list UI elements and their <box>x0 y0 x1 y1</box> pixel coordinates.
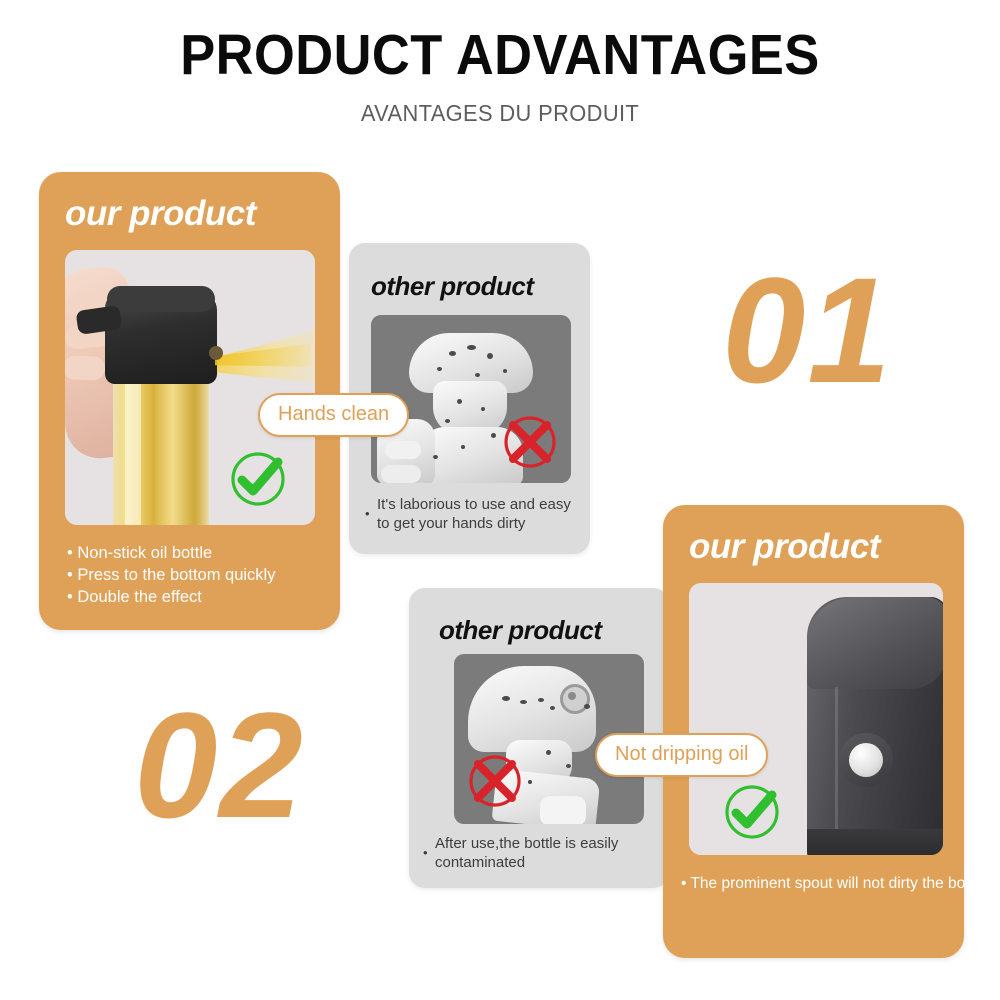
check-mark <box>719 779 785 850</box>
page-title: PRODUCT ADVANTAGES <box>40 0 960 88</box>
bullet-item: • The prominent spout will not dirty the… <box>681 873 949 895</box>
cross-mark <box>464 750 526 817</box>
page-subtitle: AVANTAGES DU PRODUIT <box>25 88 975 127</box>
our-product-bullets-2: • The prominent spout will not dirty the… <box>681 873 949 895</box>
section-number-01: 01 <box>722 255 893 405</box>
bullet-dot: • <box>423 843 428 862</box>
bullet-item: • Double the effect <box>67 586 275 608</box>
our-product-bullets-1: • Non-stick oil bottle • Press to the bo… <box>67 542 275 608</box>
our-product-photo-2 <box>689 583 943 855</box>
bullet-dot: • <box>365 504 370 523</box>
other-product-caption-2: • After use,the bottle is easily contami… <box>435 834 665 872</box>
section-number-02: 02 <box>134 690 305 840</box>
other-product-caption-1: • It's laborious to use and easy to get … <box>377 495 582 533</box>
not-dripping-oil-badge: Not dripping oil <box>595 733 768 777</box>
our-product-card-2: our product • The prominent spout will n… <box>663 505 964 958</box>
check-mark <box>225 446 291 517</box>
bullet-item: • Non-stick oil bottle <box>67 542 275 564</box>
cross-mark <box>499 411 561 478</box>
other-product-title-1: other product <box>371 271 534 302</box>
hands-clean-badge: Hands clean <box>258 393 409 437</box>
our-product-title-2: our product <box>689 527 880 567</box>
bullet-item: • Press to the bottom quickly <box>67 564 275 586</box>
other-product-title-2: other product <box>439 615 602 646</box>
our-product-title-1: our product <box>65 194 256 234</box>
page-header: PRODUCT ADVANTAGES AVANTAGES DU PRODUIT <box>0 0 1000 127</box>
our-product-photo-1 <box>65 250 315 525</box>
